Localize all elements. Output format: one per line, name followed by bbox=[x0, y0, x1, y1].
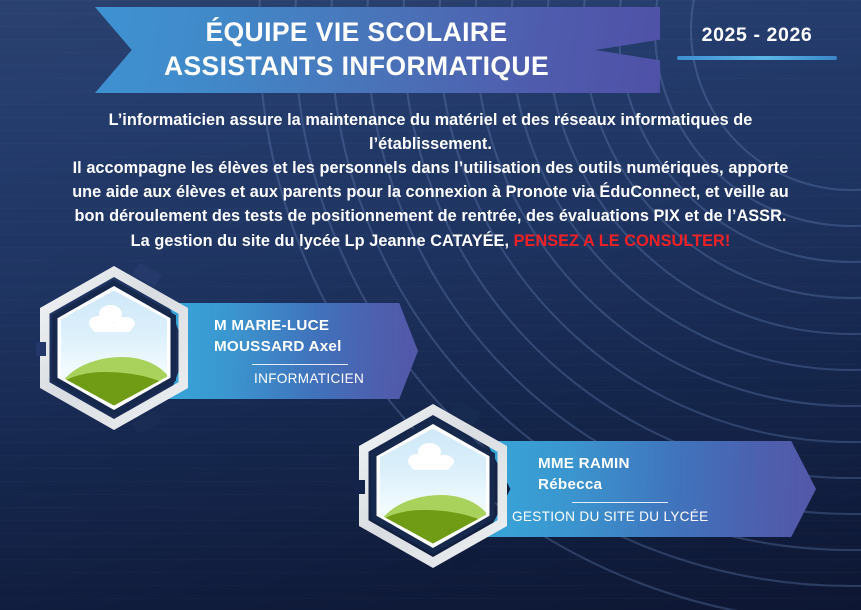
person-2-name-line-2: Rébecca bbox=[538, 475, 772, 496]
person-2-divider bbox=[572, 502, 668, 503]
person-2-avatar[interactable] bbox=[355, 402, 511, 570]
person-2-name-line-1: MME RAMIN bbox=[538, 454, 772, 475]
poster-canvas: ÉQUIPE VIE SCOLAIRE ASSISTANTS INFORMATI… bbox=[0, 0, 861, 610]
person-2-name-banner: MME RAMIN Rébecca GESTION DU SITE DU LYC… bbox=[486, 441, 816, 537]
cloud-icon bbox=[408, 447, 455, 470]
person-card-2[interactable]: MME RAMIN Rébecca GESTION DU SITE DU LYC… bbox=[0, 0, 861, 610]
person-2-role: GESTION DU SITE DU LYCÉE bbox=[512, 509, 772, 524]
